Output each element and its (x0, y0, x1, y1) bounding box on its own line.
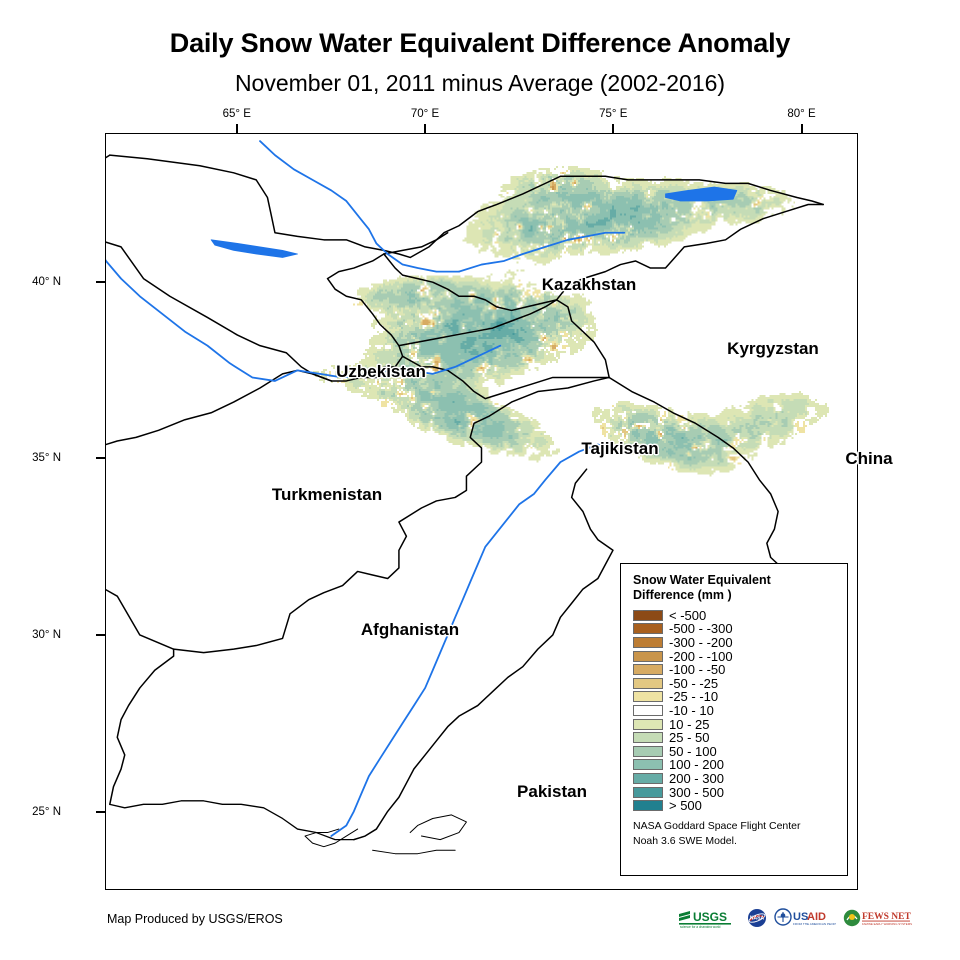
legend-label: -50 - -25 (669, 677, 718, 690)
country-label-kyrgyzstan: Kyrgyzstan (727, 339, 819, 359)
legend-swatch (633, 746, 663, 757)
rann-of-kutch (410, 815, 466, 840)
legend-class-list: < -500-500 - -300-300 - -200-200 - -100-… (633, 609, 837, 813)
legend-swatch (633, 664, 663, 675)
makran-coast (110, 801, 354, 840)
svg-text:NASA: NASA (750, 916, 765, 922)
country-label-kazakhstan: Kazakhstan (542, 275, 636, 295)
legend-swatch (633, 610, 663, 621)
kutch-coast (373, 850, 456, 853)
svg-text:science for a changing world: science for a changing world (680, 925, 721, 928)
lon-tick-label: 75° E (599, 108, 627, 120)
pakistan-iran-border (110, 649, 174, 804)
legend-row: -200 - -100 (633, 649, 837, 663)
legend-row: 200 - 300 (633, 772, 837, 786)
legend-title-line1: Snow Water Equivalent (633, 573, 837, 588)
legend-label: 100 - 200 (669, 758, 724, 771)
lat-tick (96, 457, 105, 459)
page-title: Daily Snow Water Equivalent Difference A… (0, 28, 960, 59)
legend-swatch (633, 800, 663, 811)
legend-swatch (633, 651, 663, 662)
issyk-kul-lake (666, 187, 737, 201)
tajik-inner (399, 300, 557, 346)
svg-text:FEWS NET: FEWS NET (862, 912, 911, 922)
fergana-border (384, 233, 448, 254)
legend-row: 50 - 100 (633, 744, 837, 758)
lat-tick-label: 25° N (32, 806, 61, 818)
lat-tick (96, 811, 105, 813)
legend-swatch (633, 691, 663, 702)
lon-tick (612, 124, 614, 133)
legend-row: 300 - 500 (633, 785, 837, 799)
legend-label: 300 - 500 (669, 786, 724, 799)
svg-text:FROM THE AMERICAN PEOPLE: FROM THE AMERICAN PEOPLE (793, 922, 836, 926)
lon-tick (424, 124, 426, 133)
country-label-turkmenistan: Turkmenistan (272, 485, 382, 505)
lon-tick-label: 80° E (787, 108, 815, 120)
legend-label: -500 - -300 (669, 622, 733, 635)
legend-swatch (633, 637, 663, 648)
tajik-kyrgyz-border (384, 254, 557, 310)
legend-row: > 500 (633, 799, 837, 813)
map-credit: Map Produced by USGS/EROS (107, 912, 283, 926)
lat-tick (96, 281, 105, 283)
legend-swatch (633, 678, 663, 689)
usgs-logo: USGS science for a changing world (678, 907, 740, 929)
legend-label: -300 - -200 (669, 636, 733, 649)
turkmen-afghan-border (106, 370, 331, 448)
uzbek-west (106, 155, 110, 169)
legend-label: -100 - -50 (669, 663, 725, 676)
legend-label: 10 - 25 (669, 718, 709, 731)
legend-row: -300 - -200 (633, 636, 837, 650)
legend-note-line1: NASA Goddard Space Flight Center (633, 819, 837, 833)
naryn-river (459, 233, 624, 272)
country-label-pakistan: Pakistan (517, 782, 587, 802)
legend-row: -500 - -300 (633, 622, 837, 636)
aral-sea-remnant (211, 240, 297, 258)
legend-swatch (633, 705, 663, 716)
legend-title-line2: Difference (mm ) (633, 588, 837, 603)
lon-tick (801, 124, 803, 133)
legend-label: 200 - 300 (669, 772, 724, 785)
legend-row: 10 - 25 (633, 717, 837, 731)
legend-swatch (633, 773, 663, 784)
legend-row: < -500 (633, 609, 837, 623)
country-label-tajikistan: Tajikistan (581, 439, 658, 459)
lat-tick (96, 634, 105, 636)
legend-source-note: NASA Goddard Space Flight Center Noah 3.… (633, 819, 837, 847)
legend-label: -25 - -10 (669, 690, 718, 703)
svg-text:USGS: USGS (693, 910, 727, 924)
legend-row: -25 - -10 (633, 690, 837, 704)
legend-label: -10 - 10 (669, 704, 714, 717)
country-label-china: China (845, 449, 892, 469)
legend-row: -100 - -50 (633, 663, 837, 677)
legend-label: 50 - 100 (669, 745, 717, 758)
legend-title: Snow Water Equivalent Difference (mm ) (633, 573, 837, 604)
legend-row: 100 - 200 (633, 758, 837, 772)
page-subtitle: November 01, 2011 minus Average (2002-20… (0, 70, 960, 97)
lon-tick-label: 70° E (411, 108, 439, 120)
legend-label: 25 - 50 (669, 731, 709, 744)
legend-swatch (633, 787, 663, 798)
usaid-logo: US AID FROM THE AMERICAN PEOPLE (774, 907, 836, 929)
lat-tick-label: 40° N (32, 276, 61, 288)
agency-logo-strip: USGS science for a changing world NASA U… (678, 907, 913, 929)
legend-swatch (633, 759, 663, 770)
fewsnet-logo: FEWS NET FAMINE EARLY WARNING SYSTEMS NE… (843, 907, 913, 929)
country-label-afghanistan: Afghanistan (361, 620, 459, 640)
legend-label: > 500 (669, 799, 702, 812)
legend-panel: Snow Water Equivalent Difference (mm ) <… (620, 563, 848, 876)
legend-row: -10 - 10 (633, 704, 837, 718)
nasa-logo: NASA (747, 907, 767, 929)
legend-label: < -500 (669, 609, 706, 622)
legend-row: -50 - -25 (633, 676, 837, 690)
afghanistan-south-east (106, 377, 609, 652)
lat-tick-label: 35° N (32, 452, 61, 464)
legend-note-line2: Noah 3.6 SWE Model. (633, 834, 837, 848)
legend-swatch (633, 732, 663, 743)
lon-tick-label: 65° E (223, 108, 251, 120)
svg-text:FAMINE EARLY WARNING SYSTEMS N: FAMINE EARLY WARNING SYSTEMS NETWORK (862, 922, 913, 926)
country-label-uzbekistan: Uzbekistan (336, 362, 426, 382)
afghan-tajik-border (403, 356, 610, 398)
legend-row: 25 - 50 (633, 731, 837, 745)
legend-swatch (633, 719, 663, 730)
legend-label: -200 - -100 (669, 650, 733, 663)
lat-tick-label: 30° N (32, 629, 61, 641)
lon-tick (236, 124, 238, 133)
legend-swatch (633, 623, 663, 634)
